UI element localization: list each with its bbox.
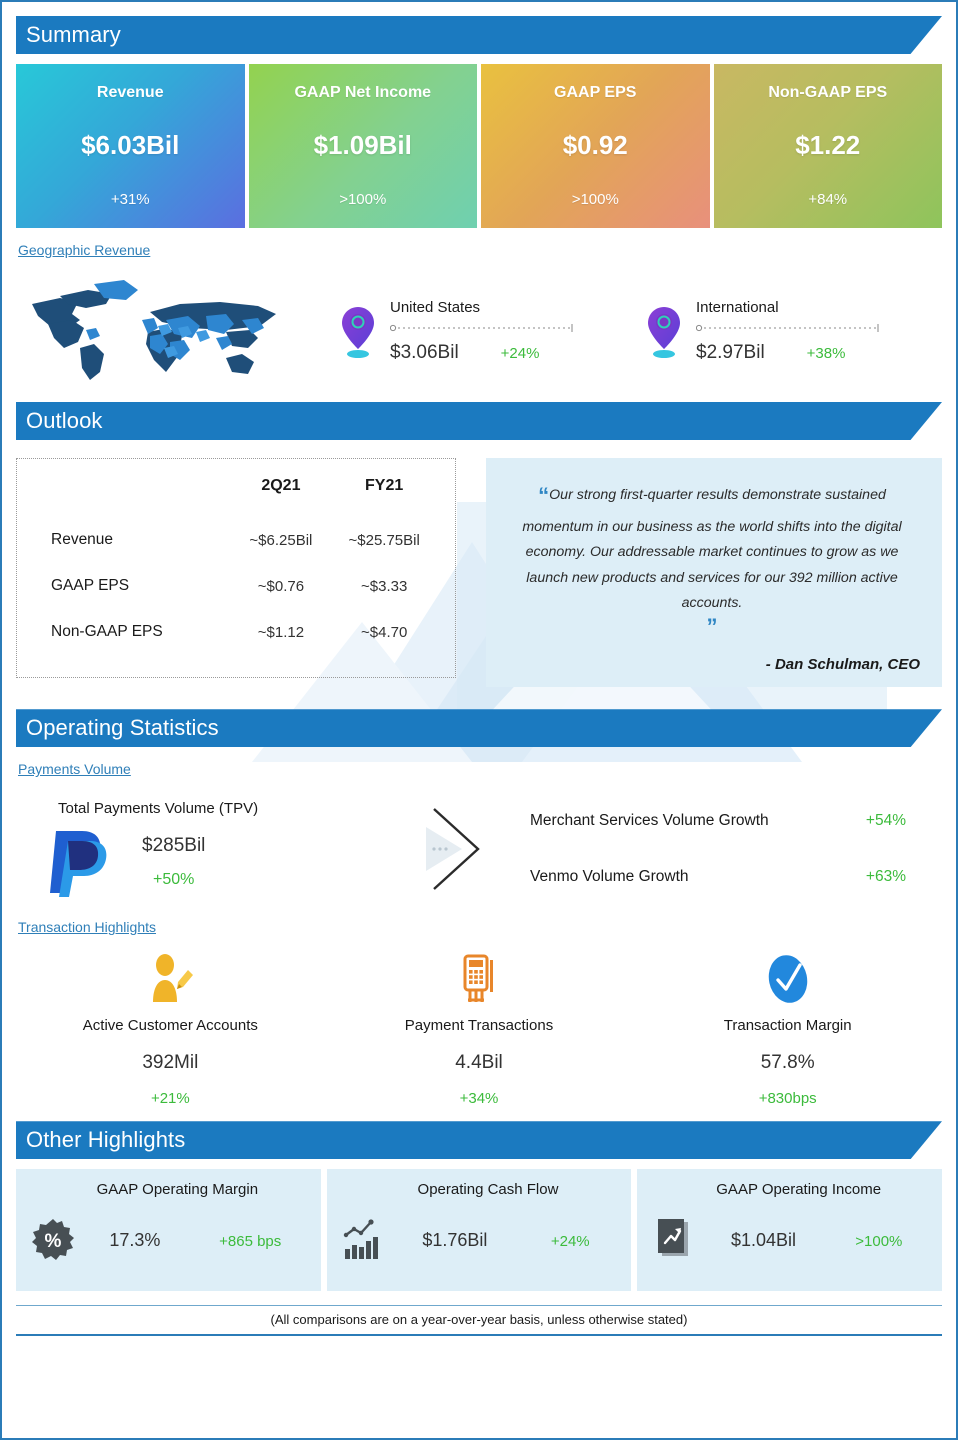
- card-body: $1.76Bil +24%: [337, 1216, 622, 1264]
- highlight-value: 392Mil: [16, 1052, 325, 1074]
- outlook-content: 2Q21 FY21 Revenue ~$6.25Bil ~$25.75Bil G…: [16, 458, 942, 687]
- geo-delta: +38%: [807, 345, 846, 362]
- geo-region-name: United States: [390, 299, 576, 316]
- icon-slot: [633, 951, 942, 1007]
- quote-text: Our strong first-quarter results demonst…: [522, 487, 901, 611]
- icon-slot: [325, 951, 634, 1007]
- other-card-gaap-operating-income: GAAP Operating Income $1.04Bil >100%: [637, 1169, 942, 1291]
- card-value: $1.76Bil: [422, 1230, 487, 1251]
- table-row: GAAP EPS ~$0.76 ~$3.33: [33, 563, 439, 609]
- icon-slot: [647, 1216, 701, 1264]
- other-card-gaap-operating-margin: GAAP Operating Margin % 17.3% +865 bps: [16, 1169, 321, 1291]
- highlight-value: 4.4Bil: [325, 1052, 634, 1074]
- card-title: GAAP EPS: [554, 84, 636, 102]
- card-values: 17.3% +865 bps: [80, 1230, 311, 1251]
- tpv-delta: +50%: [142, 871, 205, 889]
- card-value: $0.92: [563, 130, 628, 161]
- tpv-inner: $285Bil +50%: [42, 825, 402, 899]
- map-pin-icon: [644, 303, 684, 359]
- card-values: $1.04Bil >100%: [701, 1230, 932, 1251]
- growth-label: Merchant Services Volume Growth: [530, 812, 769, 830]
- table-row: Revenue ~$6.25Bil ~$25.75Bil: [33, 517, 439, 563]
- outlook-table: 2Q21 FY21 Revenue ~$6.25Bil ~$25.75Bil G…: [16, 458, 456, 678]
- card-body: $1.04Bil >100%: [647, 1216, 932, 1264]
- icon-slot: [337, 1216, 391, 1264]
- section-banner-operating-statistics: Operating Statistics: [16, 709, 942, 747]
- pos-terminal-icon: [457, 952, 501, 1006]
- geo-region-name: International: [696, 299, 882, 316]
- summary-card-non-gaap-eps: Non-GAAP EPS $1.22 +84%: [714, 64, 943, 228]
- section-title-operating-statistics: Operating Statistics: [16, 709, 942, 747]
- geographic-revenue-row: United States $3.06Bil +24%: [2, 266, 956, 396]
- section-banner-outlook: Outlook: [16, 402, 942, 440]
- tpv-amount: $285Bil: [142, 835, 205, 857]
- other-highlights-row: GAAP Operating Margin % 17.3% +865 bps O…: [16, 1169, 942, 1291]
- card-delta: +84%: [808, 191, 847, 208]
- geo-divider: [696, 323, 882, 333]
- card-title: GAAP Operating Margin: [26, 1181, 311, 1198]
- growth-row-venmo: Venmo Volume Growth +63%: [530, 868, 906, 886]
- card-title: Operating Cash Flow: [337, 1181, 622, 1198]
- card-delta: +31%: [111, 191, 150, 208]
- table-row: Non-GAAP EPS ~$1.12 ~$4.70: [33, 609, 439, 655]
- other-card-operating-cash-flow: Operating Cash Flow: [327, 1169, 632, 1291]
- ceo-quote-box: “Our strong first-quarter results demons…: [486, 458, 942, 687]
- chevron-right-icon: [412, 805, 492, 893]
- summary-card-revenue: Revenue $6.03Bil +31%: [16, 64, 245, 228]
- card-delta: +865 bps: [219, 1233, 281, 1250]
- quote-text-wrapper: “Our strong first-quarter results demons…: [504, 476, 920, 616]
- card-delta: >100%: [855, 1233, 902, 1250]
- card-value: $1.09Bil: [314, 130, 412, 161]
- section-title-outlook: Outlook: [16, 402, 942, 440]
- tpv-numbers: $285Bil +50%: [142, 835, 205, 889]
- geo-amount: $2.97Bil: [696, 342, 765, 364]
- tpv-title: Total Payments Volume (TPV): [58, 800, 402, 817]
- section-banner-summary: Summary: [16, 16, 942, 54]
- volume-growth-list: Merchant Services Volume Growth +54% Ven…: [530, 812, 906, 886]
- highlight-value: 57.8%: [633, 1052, 942, 1074]
- highlight-label: Active Customer Accounts: [16, 1017, 325, 1034]
- icon-slot: [16, 951, 325, 1007]
- transaction-highlights-row: Active Customer Accounts 392Mil +21%: [16, 951, 942, 1107]
- col-header-2q21: 2Q21: [232, 477, 329, 517]
- geo-text-block: International $2.97Bil +38%: [696, 299, 882, 364]
- growth-value: +54%: [866, 812, 906, 830]
- geo-values: $2.97Bil +38%: [696, 342, 882, 364]
- card-delta: +24%: [551, 1233, 590, 1250]
- card-values: $1.76Bil +24%: [391, 1230, 622, 1251]
- infographic-page: Summary Revenue $6.03Bil +31% GAAP Net I…: [0, 0, 958, 1440]
- card-delta: >100%: [339, 191, 386, 208]
- geo-item-international: International $2.97Bil +38%: [644, 299, 882, 364]
- section-title-other-highlights: Other Highlights: [16, 1121, 942, 1159]
- row-label: Non-GAAP EPS: [33, 609, 232, 655]
- summary-card-gaap-net-income: GAAP Net Income $1.09Bil >100%: [249, 64, 478, 228]
- cell-2q21: ~$1.12: [232, 609, 329, 655]
- card-title: Non-GAAP EPS: [768, 84, 887, 102]
- payments-volume-row: Total Payments Volume (TPV) $285Bil +50%: [2, 789, 956, 909]
- growth-row-merchant: Merchant Services Volume Growth +54%: [530, 812, 906, 830]
- geo-text-block: United States $3.06Bil +24%: [390, 299, 576, 364]
- section-title-summary: Summary: [16, 16, 942, 54]
- footnote: (All comparisons are on a year-over-year…: [16, 1305, 942, 1336]
- document-trend-icon: [651, 1215, 697, 1265]
- summary-cards: Revenue $6.03Bil +31% GAAP Net Income $1…: [16, 64, 942, 228]
- subheading-geographic-revenue: Geographic Revenue: [18, 242, 150, 258]
- geo-amount: $3.06Bil: [390, 342, 459, 364]
- row-label: GAAP EPS: [33, 563, 232, 609]
- paypal-logo-icon: [42, 825, 120, 899]
- highlight-transaction-margin: Transaction Margin 57.8% +830bps: [633, 951, 942, 1107]
- geo-divider: [390, 323, 576, 333]
- growth-label: Venmo Volume Growth: [530, 868, 689, 886]
- person-signup-icon: [145, 952, 195, 1006]
- card-title: GAAP Operating Income: [647, 1181, 932, 1198]
- col-header-fy21: FY21: [329, 477, 439, 517]
- world-map-icon: [20, 276, 320, 386]
- geo-values: $3.06Bil +24%: [390, 342, 576, 364]
- percent-badge-icon: %: [30, 1217, 76, 1263]
- card-value: $1.22: [795, 130, 860, 161]
- card-value: 17.3%: [109, 1230, 160, 1251]
- geo-item-united-states: United States $3.06Bil +24%: [338, 299, 576, 364]
- highlight-delta: +830bps: [633, 1090, 942, 1107]
- card-value: $6.03Bil: [81, 130, 179, 161]
- cell-2q21: ~$6.25Bil: [232, 517, 329, 563]
- highlight-payment-transactions: Payment Transactions 4.4Bil +34%: [325, 951, 634, 1107]
- growth-value: +63%: [866, 868, 906, 886]
- highlight-delta: +34%: [325, 1090, 634, 1107]
- card-title: Revenue: [97, 84, 164, 102]
- cell-fy21: ~$25.75Bil: [329, 517, 439, 563]
- card-title: GAAP Net Income: [294, 84, 431, 102]
- tpv-block: Total Payments Volume (TPV) $285Bil +50%: [42, 800, 402, 899]
- card-body: % 17.3% +865 bps: [26, 1216, 311, 1264]
- highlight-label: Transaction Margin: [633, 1017, 942, 1034]
- cell-fy21: ~$4.70: [329, 609, 439, 655]
- map-pin-icon: [338, 303, 378, 359]
- check-ellipse-icon: [762, 952, 814, 1006]
- quote-open-icon: “: [538, 483, 549, 508]
- quote-attribution: - Dan Schulman, CEO: [504, 656, 920, 673]
- svg-text:%: %: [45, 1231, 62, 1252]
- highlight-active-customer-accounts: Active Customer Accounts 392Mil +21%: [16, 951, 325, 1107]
- col-header-label: [33, 477, 232, 517]
- subheading-payments-volume: Payments Volume: [18, 761, 131, 777]
- icon-slot: %: [26, 1216, 80, 1264]
- bar-trend-icon: [341, 1217, 387, 1263]
- cell-fy21: ~$3.33: [329, 563, 439, 609]
- highlight-delta: +21%: [16, 1090, 325, 1107]
- subheading-transaction-highlights: Transaction Highlights: [18, 919, 156, 935]
- cell-2q21: ~$0.76: [232, 563, 329, 609]
- geo-delta: +24%: [501, 345, 540, 362]
- table-header-row: 2Q21 FY21: [33, 477, 439, 517]
- quote-close-icon: ”: [504, 614, 920, 640]
- section-banner-other-highlights: Other Highlights: [16, 1121, 942, 1159]
- summary-card-gaap-eps: GAAP EPS $0.92 >100%: [481, 64, 710, 228]
- highlight-label: Payment Transactions: [325, 1017, 634, 1034]
- card-delta: >100%: [572, 191, 619, 208]
- card-value: $1.04Bil: [731, 1230, 796, 1251]
- row-label: Revenue: [33, 517, 232, 563]
